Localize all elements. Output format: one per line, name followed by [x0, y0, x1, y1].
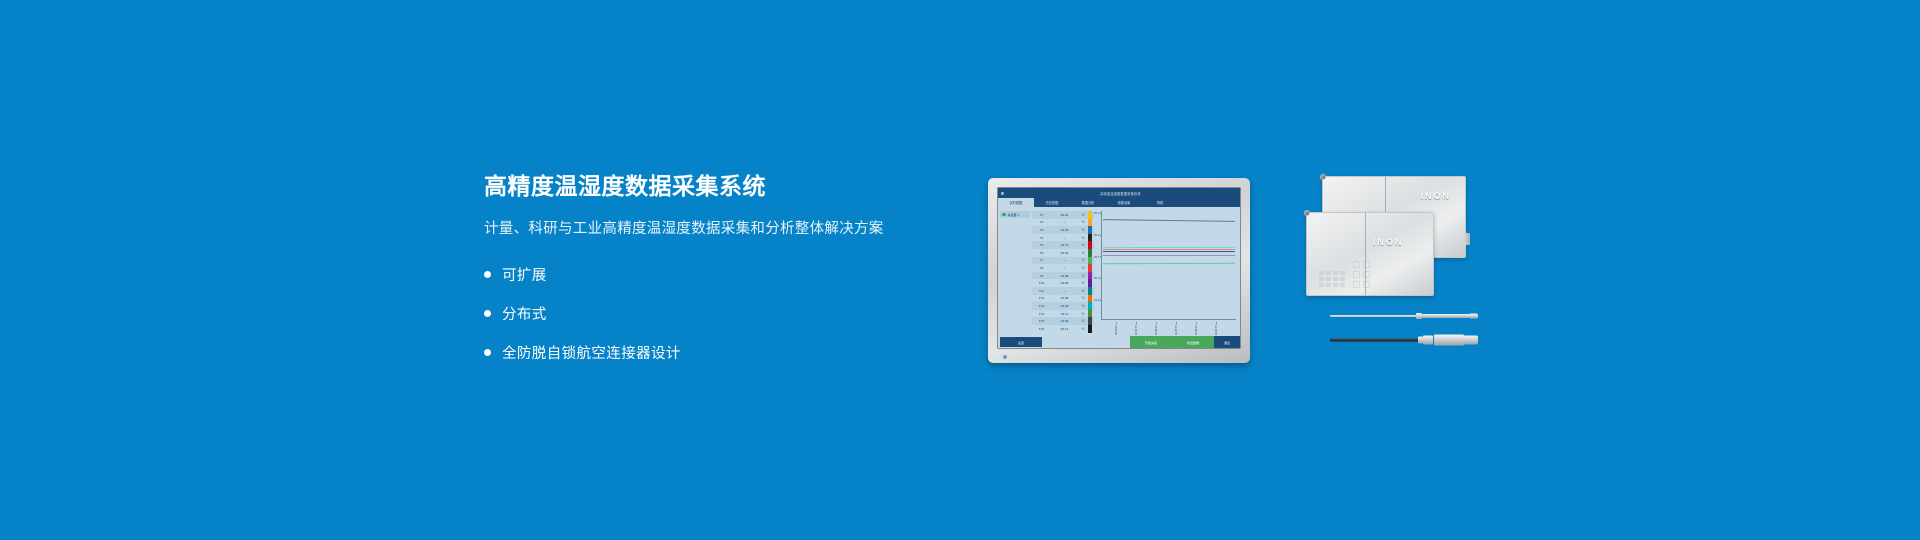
tab-bar-filler	[1178, 198, 1240, 207]
channel-name: T13	[1032, 304, 1051, 308]
channel-readout-table: T125.01℃T2---℃T324.99℃T4---℃T524.72℃T625…	[1032, 207, 1094, 336]
chart-x-tick: 14:32:00	[1174, 325, 1177, 335]
device-tree-panel: 采集器 1	[998, 207, 1032, 336]
series-color-swatch	[1088, 264, 1092, 272]
chart-y-axis	[1101, 211, 1102, 320]
channel-unit: ℃	[1078, 236, 1088, 240]
probe-body	[1434, 335, 1464, 346]
channel-unit: ℃	[1078, 266, 1088, 270]
chart-series-line	[1103, 249, 1235, 250]
chart-y-tick: 25.1	[1094, 255, 1099, 259]
channel-value: 25.03	[1051, 251, 1078, 255]
connector-port	[1464, 233, 1470, 245]
channel-unit: ℃	[1078, 304, 1088, 308]
monitor-indicator-led-icon	[1003, 355, 1007, 359]
brand-logo: INON	[1421, 191, 1452, 201]
channel-name: T15	[1032, 319, 1051, 323]
channel-name: T12	[1032, 296, 1051, 300]
series-color-swatch	[1088, 272, 1092, 280]
start-acquisition-button[interactable]: 开始采集	[1130, 336, 1172, 348]
front-module: INON	[1306, 212, 1434, 296]
channel-name: T7	[1032, 258, 1051, 262]
chart-x-tick: 14:36:00	[1194, 325, 1197, 335]
series-color-swatch	[1088, 249, 1092, 257]
channel-name: T14	[1032, 312, 1051, 316]
monitor-inner-frame: 高精度温湿度数据采集系统 实时数据 历史数据 数据分析 参数设置 帮助	[997, 187, 1241, 349]
chart-y-tick: 25.0	[1094, 276, 1099, 280]
app-body: 采集器 1 T125.01℃T2---℃T324.99℃T4---℃T524.7…	[998, 207, 1240, 336]
chart-x-tick: 14:24:00	[1134, 325, 1137, 335]
chart-x-tick: 14:40:00	[1214, 325, 1217, 335]
channel-name: T5	[1032, 243, 1051, 247]
channel-name: T10	[1032, 281, 1051, 285]
channel-value: ---	[1051, 236, 1078, 240]
table-row[interactable]: T1225.06℃	[1032, 295, 1094, 303]
monitor-bezel: 高精度温湿度数据采集系统 实时数据 历史数据 数据分析 参数设置 帮助	[988, 178, 1250, 363]
temperature-humidity-probes	[1330, 312, 1478, 360]
series-color-swatch	[1088, 257, 1092, 265]
monitor-screen: 高精度温湿度数据采集系统 实时数据 历史数据 数据分析 参数设置 帮助	[998, 188, 1240, 348]
channel-value: 24.28	[1051, 304, 1078, 308]
channel-name: T6	[1032, 251, 1051, 255]
channel-unit: ℃	[1078, 220, 1088, 224]
channel-value: ---	[1051, 289, 1078, 293]
channel-unit: ℃	[1078, 289, 1088, 293]
channel-value: 24.11	[1051, 312, 1078, 316]
page-title: 高精度温湿度数据采集系统	[484, 172, 954, 201]
feature-label: 分布式	[502, 303, 547, 324]
channel-name: T8	[1032, 266, 1051, 270]
chart-x-tick: 14:20:00	[1114, 325, 1117, 335]
table-row[interactable]: T924.98℃	[1032, 272, 1094, 280]
screw-icon	[1320, 174, 1326, 180]
series-color-swatch	[1088, 279, 1092, 287]
probe-shaft	[1422, 314, 1472, 318]
status-led-icon	[1002, 213, 1006, 217]
page-subtitle: 计量、科研与工业高精度温湿度数据采集和分析整体解决方案	[484, 219, 954, 239]
probe-tip	[1464, 336, 1478, 345]
tab-settings[interactable]: 参数设置	[1106, 198, 1142, 207]
series-color-swatch	[1088, 211, 1092, 219]
channel-name: T16	[1032, 327, 1051, 331]
bullet-dot-icon	[484, 310, 491, 317]
table-row[interactable]: T2---℃	[1032, 219, 1094, 227]
series-color-swatch	[1088, 325, 1092, 333]
series-color-swatch	[1088, 226, 1092, 234]
table-row[interactable]: T1324.28℃	[1032, 302, 1094, 310]
product-hero-banner: 高精度温湿度数据采集系统 计量、科研与工业高精度温湿度数据采集和分析整体解决方案…	[0, 0, 1920, 540]
channel-value: 24.90	[1051, 319, 1078, 323]
app-tab-bar: 实时数据 历史数据 数据分析 参数设置 帮助	[998, 198, 1240, 207]
table-row[interactable]: T8---℃	[1032, 264, 1094, 272]
channel-value: 25.06	[1051, 296, 1078, 300]
bullet-dot-icon	[484, 349, 491, 356]
app-window-title: 高精度温湿度数据采集系统	[1004, 191, 1237, 196]
list-item: 全防脱自锁航空连接器设计	[484, 337, 954, 368]
chart-series-line	[1103, 255, 1235, 256]
table-row[interactable]: T1024.88℃	[1032, 279, 1094, 287]
chart-series-line	[1103, 247, 1235, 248]
exit-button[interactable]: 退出	[1214, 336, 1240, 348]
channel-value: 24.72	[1051, 243, 1078, 247]
channel-unit: ℃	[1078, 312, 1088, 316]
probe-tip	[1470, 314, 1478, 319]
tab-realtime[interactable]: 实时数据	[998, 198, 1034, 207]
channel-value: 25.01	[1051, 213, 1078, 217]
probe-cable	[1330, 339, 1422, 342]
chart-y-tick: 25.2	[1094, 233, 1099, 237]
channel-name: T2	[1032, 220, 1051, 224]
table-row[interactable]: T4---℃	[1032, 234, 1094, 242]
chart-x-axis	[1101, 319, 1236, 320]
tab-analysis[interactable]: 数据分析	[1070, 198, 1106, 207]
table-row[interactable]: T7---℃	[1032, 257, 1094, 265]
series-color-swatch	[1088, 287, 1092, 295]
device-tree-item[interactable]: 采集器 1	[1000, 211, 1030, 218]
channel-value: 24.88	[1051, 281, 1078, 285]
device-label: 采集器 1	[1008, 213, 1020, 217]
series-color-swatch	[1088, 241, 1092, 249]
series-color-swatch	[1088, 302, 1092, 310]
series-color-swatch	[1088, 234, 1092, 242]
table-row[interactable]: T625.03℃	[1032, 249, 1094, 257]
list-item: 可扩展	[484, 259, 954, 290]
channel-unit: ℃	[1078, 243, 1088, 247]
channel-name: T9	[1032, 274, 1051, 278]
chart-y-tick: 25.3	[1094, 211, 1099, 215]
channel-name: T3	[1032, 228, 1051, 232]
series-color-swatch	[1088, 317, 1092, 325]
feature-list: 可扩展 分布式 全防脱自锁航空连接器设计	[484, 259, 954, 368]
channel-unit: ℃	[1078, 319, 1088, 323]
tab-history[interactable]: 历史数据	[1034, 198, 1070, 207]
channel-value: 24.98	[1051, 274, 1078, 278]
channel-unit: ℃	[1078, 213, 1088, 217]
table-row[interactable]: T524.72℃	[1032, 241, 1094, 249]
channel-unit: ℃	[1078, 228, 1088, 232]
vent-grid	[1319, 271, 1345, 287]
channel-unit: ℃	[1078, 296, 1088, 300]
channel-name: T1	[1032, 213, 1051, 217]
chart-x-tick: 14:28:00	[1154, 325, 1157, 335]
tab-help[interactable]: 帮助	[1142, 198, 1178, 207]
settings-button[interactable]: 设置	[1000, 337, 1042, 347]
terminal-block-icons	[1353, 261, 1370, 288]
trend-chart: 25.325.225.125.024.914:20:0014:24:0014:2…	[1094, 207, 1240, 336]
chart-series-line	[1103, 263, 1235, 265]
table-row[interactable]: T125.01℃	[1032, 211, 1094, 219]
table-row[interactable]: T11---℃	[1032, 287, 1094, 295]
channel-unit: ℃	[1078, 281, 1088, 285]
bullet-dot-icon	[484, 271, 491, 278]
channel-value: ---	[1051, 220, 1078, 224]
feature-label: 可扩展	[502, 264, 547, 285]
list-item: 分布式	[484, 298, 954, 329]
channel-unit: ℃	[1078, 251, 1088, 255]
channel-value: 25.14	[1051, 327, 1078, 331]
table-row[interactable]: T324.99℃	[1032, 226, 1094, 234]
panel-pc-monitor: 高精度温湿度数据采集系统 实时数据 历史数据 数据分析 参数设置 帮助	[988, 178, 1250, 363]
channel-name: T4	[1032, 236, 1051, 240]
channel-unit: ℃	[1078, 258, 1088, 262]
probe-cable	[1330, 315, 1422, 317]
table-row[interactable]: T1625.14℃	[1032, 325, 1094, 333]
table-row[interactable]: T1424.11℃	[1032, 310, 1094, 318]
chart-y-tick: 24.9	[1094, 298, 1099, 302]
channel-value: ---	[1051, 258, 1078, 262]
channel-value: 24.99	[1051, 228, 1078, 232]
footer-spacer	[1042, 336, 1130, 348]
app-titlebar: 高精度温湿度数据采集系统	[998, 188, 1240, 198]
channel-value: ---	[1051, 266, 1078, 270]
chart-series-line	[1103, 219, 1235, 222]
series-color-swatch	[1088, 310, 1092, 318]
app-footer-toolbar: 设置 开始采集 导出数据 退出	[998, 336, 1240, 348]
hero-copy-block: 高精度温湿度数据采集系统 计量、科研与工业高精度温湿度数据采集和分析整体解决方案…	[484, 172, 954, 376]
chart-series-line	[1103, 251, 1235, 252]
channel-unit: ℃	[1078, 274, 1088, 278]
probe-ferrule	[1423, 336, 1433, 345]
channel-unit: ℃	[1078, 327, 1088, 331]
export-data-button[interactable]: 导出数据	[1172, 336, 1214, 348]
series-color-swatch	[1088, 219, 1092, 227]
screw-icon	[1304, 210, 1310, 216]
series-color-swatch	[1088, 295, 1092, 303]
feature-label: 全防脱自锁航空连接器设计	[502, 342, 681, 363]
brand-logo: INON	[1373, 237, 1404, 247]
table-row[interactable]: T1524.90℃	[1032, 317, 1094, 325]
channel-name: T11	[1032, 289, 1051, 293]
data-acquisition-modules: INON INON	[1306, 176, 1466, 296]
